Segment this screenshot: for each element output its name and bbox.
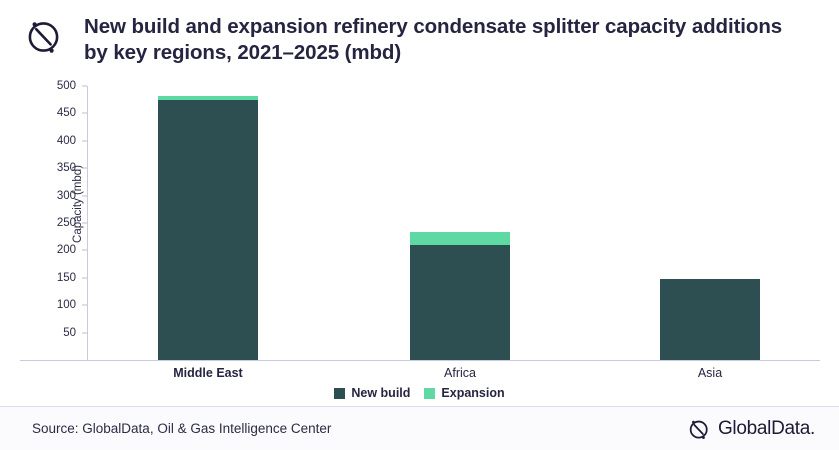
x-axis-label-asia: Asia	[630, 366, 790, 380]
bar-group[interactable]	[660, 279, 760, 360]
bar-group[interactable]	[410, 232, 510, 360]
y-axis-tick-label: 500	[57, 80, 76, 92]
bar-segment-new-build[interactable]	[410, 245, 510, 360]
y-axis-tick-label: 350	[57, 162, 76, 174]
x-axis-label-middle-east: Middle East	[128, 366, 288, 380]
footer-logo: GlobalData.	[686, 416, 815, 442]
chart-footer: Source: GlobalData, Oil & Gas Intelligen…	[0, 407, 839, 450]
globaldata-circle-slash-icon	[686, 416, 712, 442]
bar-segment-expansion[interactable]	[410, 232, 510, 245]
y-axis-tick-label: 50	[63, 327, 76, 339]
legend-item-new-build[interactable]: New build	[334, 386, 410, 400]
x-axis-label-africa: Africa	[380, 366, 540, 380]
y-axis-ticks: 50100150200250300350400450500	[36, 78, 82, 360]
chart-header: New build and expansion refinery condens…	[0, 0, 839, 80]
bar-series-container	[88, 78, 828, 360]
chart-plot-area: Capacity (mbd) 5010015020025030035040045…	[0, 78, 839, 398]
legend-item-expansion[interactable]: Expansion	[424, 386, 504, 400]
legend-swatch	[424, 388, 435, 399]
y-axis-tick-label: 100	[57, 299, 76, 311]
bar-group[interactable]	[158, 96, 258, 360]
x-axis-category-labels: Middle EastAfricaAsia	[88, 366, 828, 388]
bar-segment-new-build[interactable]	[158, 100, 258, 360]
source-text: Source: GlobalData, Oil & Gas Intelligen…	[32, 421, 331, 436]
footer-wordmark: GlobalData.	[718, 418, 815, 440]
y-axis-tick-label: 150	[57, 272, 76, 284]
y-axis-tick-label: 450	[57, 107, 76, 119]
legend-label: New build	[351, 386, 410, 400]
chart-legend: New buildExpansion	[0, 386, 839, 400]
y-axis-tick-label: 250	[57, 217, 76, 229]
page-title: New build and expansion refinery condens…	[84, 14, 784, 65]
legend-swatch	[334, 388, 345, 399]
title-block: New build and expansion refinery condens…	[84, 12, 784, 65]
legend-label: Expansion	[441, 386, 504, 400]
bar-segment-new-build[interactable]	[660, 279, 760, 360]
y-axis-tick-label: 400	[57, 135, 76, 147]
y-axis-tick-label: 300	[57, 190, 76, 202]
x-axis-line	[20, 360, 820, 361]
y-axis-tick-label: 200	[57, 244, 76, 256]
globaldata-circle-slash-icon	[22, 14, 66, 58]
